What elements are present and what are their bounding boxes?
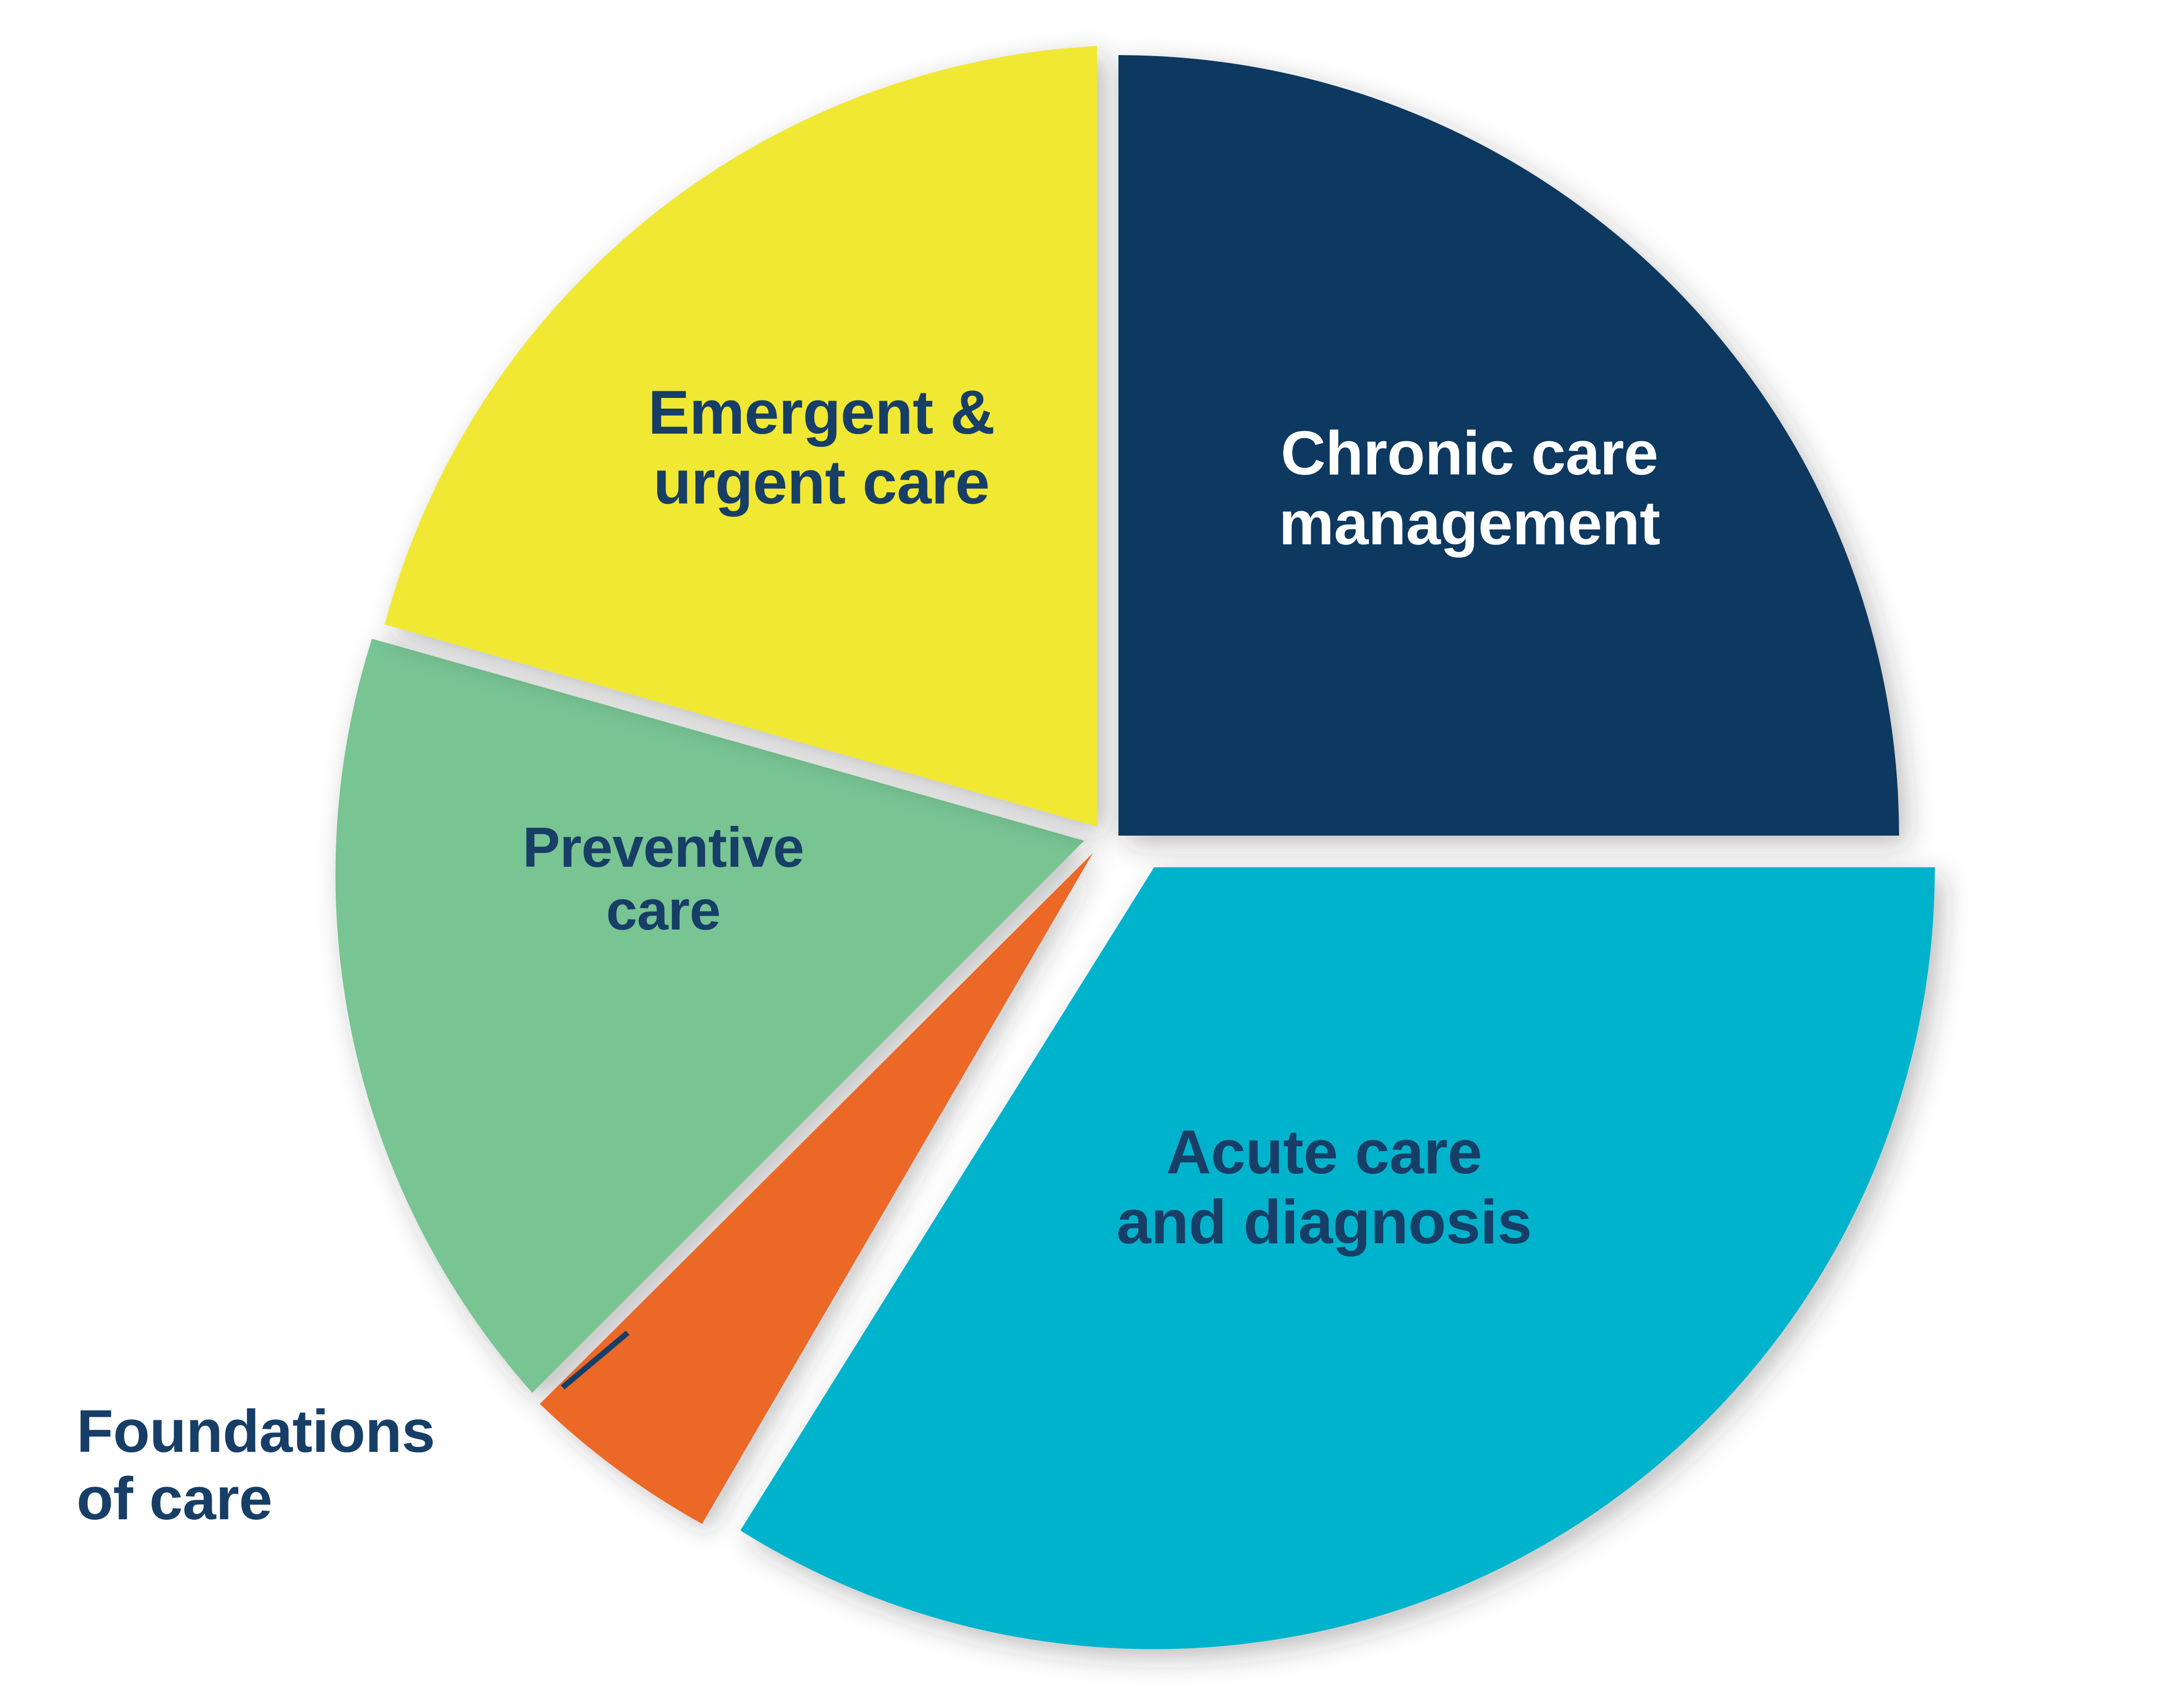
slice-label-foundations-of-care: Foundations of care	[77, 1398, 617, 1533]
slice-label-chronic-care-management: Chronic care management	[1168, 418, 1770, 558]
pie-chart-figure: Chronic care management Emergent & urgen…	[0, 0, 2170, 1708]
slice-label-acute-care-and-diagnosis: Acute care and diagnosis	[1000, 1117, 1648, 1257]
slice-label-emergent-urgent-care: Emergent & urgent care	[538, 378, 1105, 517]
slice-label-preventive-care: Preventive care	[426, 816, 901, 942]
